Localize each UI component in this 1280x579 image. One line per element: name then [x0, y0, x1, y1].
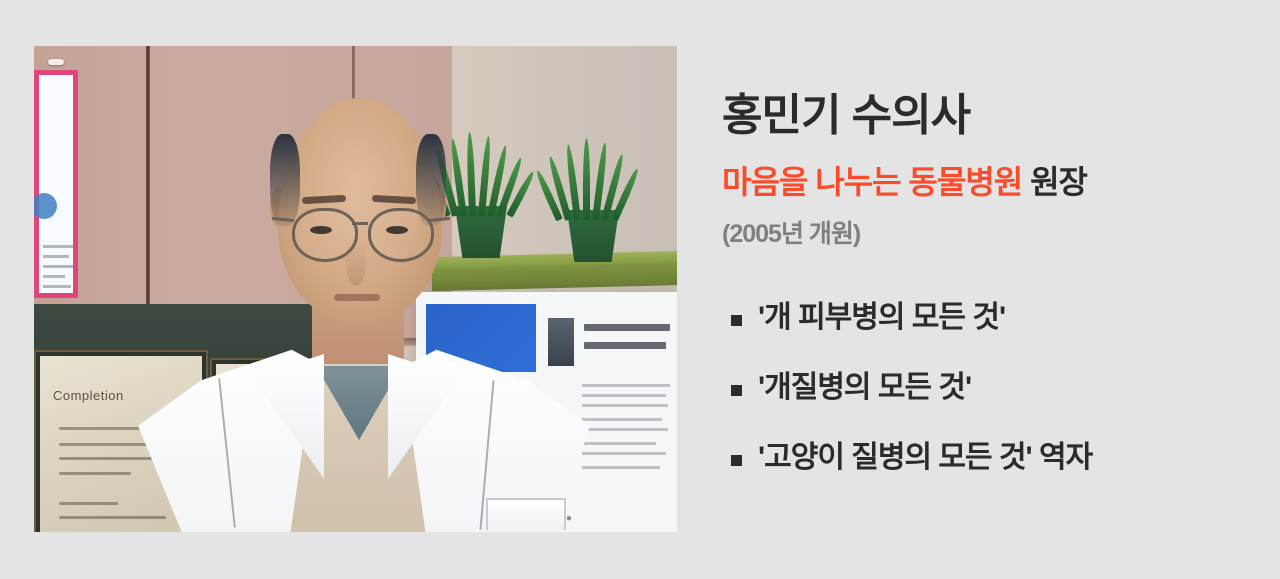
list-item: '개 피부병의 모든 것' — [722, 296, 1262, 366]
square-bullet-icon — [731, 385, 742, 396]
list-item-label: '고양이 질병의 모든 것' 역자 — [758, 441, 1092, 474]
clinic-role: 원장 — [1022, 164, 1087, 200]
clinic-name: 마음을 나누는 동물병원 — [722, 164, 1022, 200]
hair-side-left — [270, 134, 300, 226]
clinic-opened-year: (2005년 개원) — [722, 214, 860, 250]
nose — [346, 242, 366, 286]
square-bullet-icon — [731, 455, 742, 466]
veterinarian-photo: Completion — [34, 46, 677, 532]
list-item: '고양이 질병의 모든 것' 역자 — [722, 436, 1262, 506]
clinic-line: 마음을 나누는 동물병원 원장 — [722, 157, 1087, 203]
profile-slide: Completion — [0, 0, 1280, 579]
page-title: 홍민기 수의사 — [722, 79, 970, 143]
list-item-label: '개 피부병의 모든 것' — [758, 301, 1005, 334]
square-bullet-icon — [731, 315, 742, 326]
coat-pocket — [486, 498, 566, 530]
profile-info: 홍민기 수의사 마음을 나누는 동물병원 원장 (2005년 개원) '개 피부… — [722, 0, 1262, 579]
book-list: '개 피부병의 모든 것' '개질병의 모든 것' '고양이 질병의 모든 것'… — [722, 296, 1262, 506]
glasses-lens-right — [368, 208, 434, 262]
list-item: '개질병의 모든 것' — [722, 366, 1262, 436]
glasses-bridge — [352, 222, 368, 225]
person-figure — [34, 46, 677, 532]
mouth — [334, 294, 380, 301]
list-item-label: '개질병의 모든 것' — [758, 371, 971, 404]
